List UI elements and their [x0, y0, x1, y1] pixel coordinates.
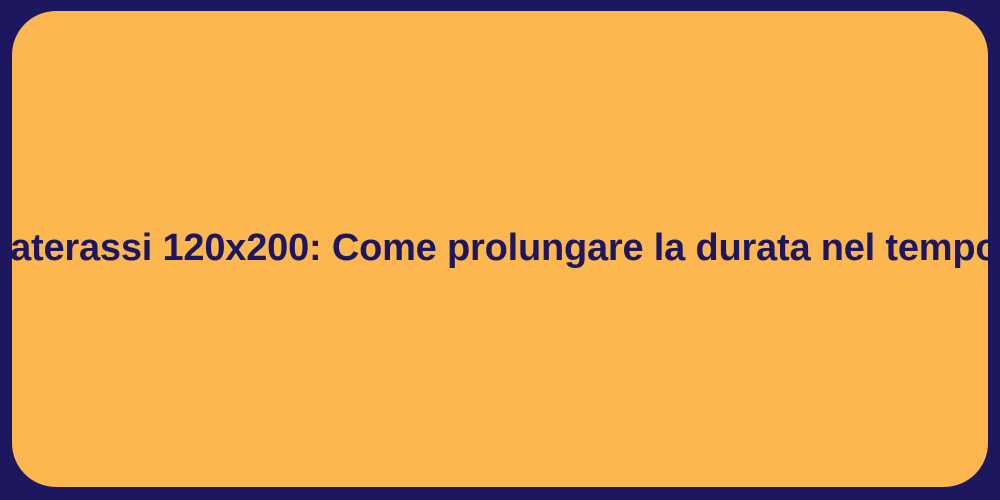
banner-title: Materassi 120x200: Come prolungare la du…: [0, 225, 1000, 273]
banner-frame: Materassi 120x200: Come prolungare la du…: [0, 0, 1000, 500]
banner-card: Materassi 120x200: Come prolungare la du…: [12, 11, 988, 487]
